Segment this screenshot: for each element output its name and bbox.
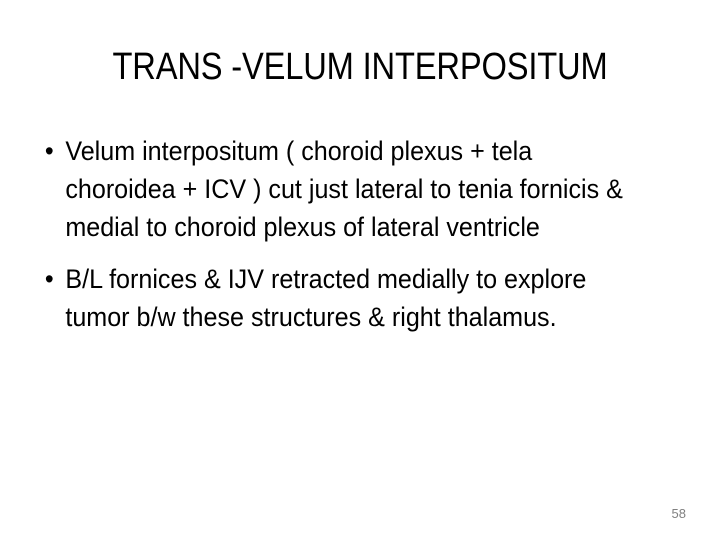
- list-item: • B/L fornices & IJV retracted medially …: [30, 260, 625, 336]
- list-item: • Velum interpositum ( choroid plexus + …: [30, 132, 625, 246]
- bullet-point-icon: •: [45, 132, 62, 170]
- slide-number: 58: [672, 506, 686, 522]
- list-item-text: Velum interpositum ( choroid plexus + te…: [65, 132, 625, 246]
- presentation-slide: TRANS -VELUM INTERPOSITUM • Velum interp…: [0, 0, 720, 540]
- list-item-text: B/L fornices & IJV retracted medially to…: [65, 260, 625, 336]
- slide-body: • Velum interpositum ( choroid plexus + …: [30, 132, 670, 336]
- bullet-point-icon: •: [45, 260, 62, 298]
- page-title: TRANS -VELUM INTERPOSITUM: [81, 44, 638, 90]
